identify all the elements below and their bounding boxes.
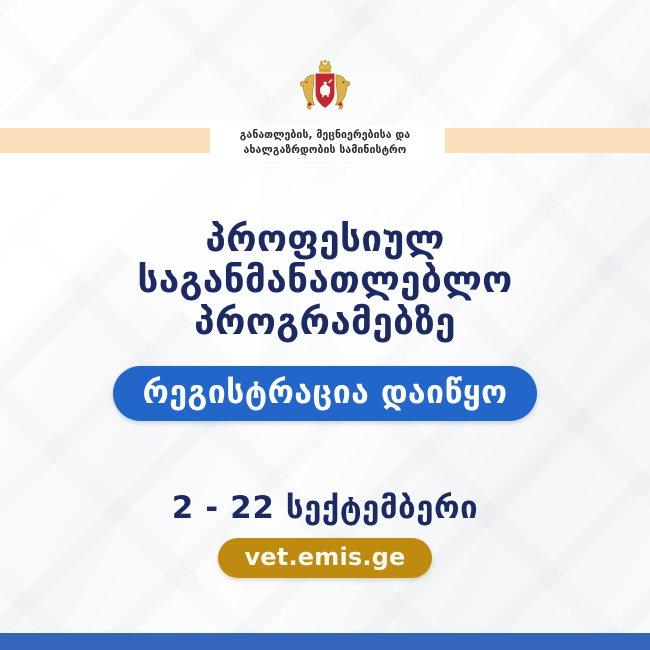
registration-pill-row: რეგისტრაცია დაიწყო (0, 366, 650, 421)
georgia-coat-of-arms-icon (294, 60, 356, 118)
website-badge-row: vet.emis.ge (0, 538, 650, 578)
headline-line-3: პროგრამებზე (0, 301, 650, 342)
ministry-header: განათლების, მეცნიერებისა და ახალგაზრდობი… (0, 60, 650, 161)
headline-line-1: პროფესიულ (0, 218, 650, 259)
registration-open-pill: რეგისტრაცია დაიწყო (113, 366, 538, 421)
announcement-poster: განათლების, მეცნიერებისა და ახალგაზრდობი… (0, 0, 650, 650)
ministry-name: განათლების, მეცნიერებისა და ახალგაზრდობი… (226, 126, 424, 161)
ministry-name-line-1: განათლების, მეცნიერებისა და (240, 128, 410, 143)
website-url-badge[interactable]: vet.emis.ge (218, 538, 431, 578)
bottom-accent-bar (0, 633, 650, 650)
registration-date-range: 2 - 22 სექტემბერი (0, 490, 650, 526)
headline-line-2: საგანმანათლებლო (0, 259, 650, 300)
ministry-name-line-2: ახალგაზრდობის სამინისტრო (240, 143, 410, 158)
headline: პროფესიულ საგანმანათლებლო პროგრამებზე (0, 218, 650, 342)
